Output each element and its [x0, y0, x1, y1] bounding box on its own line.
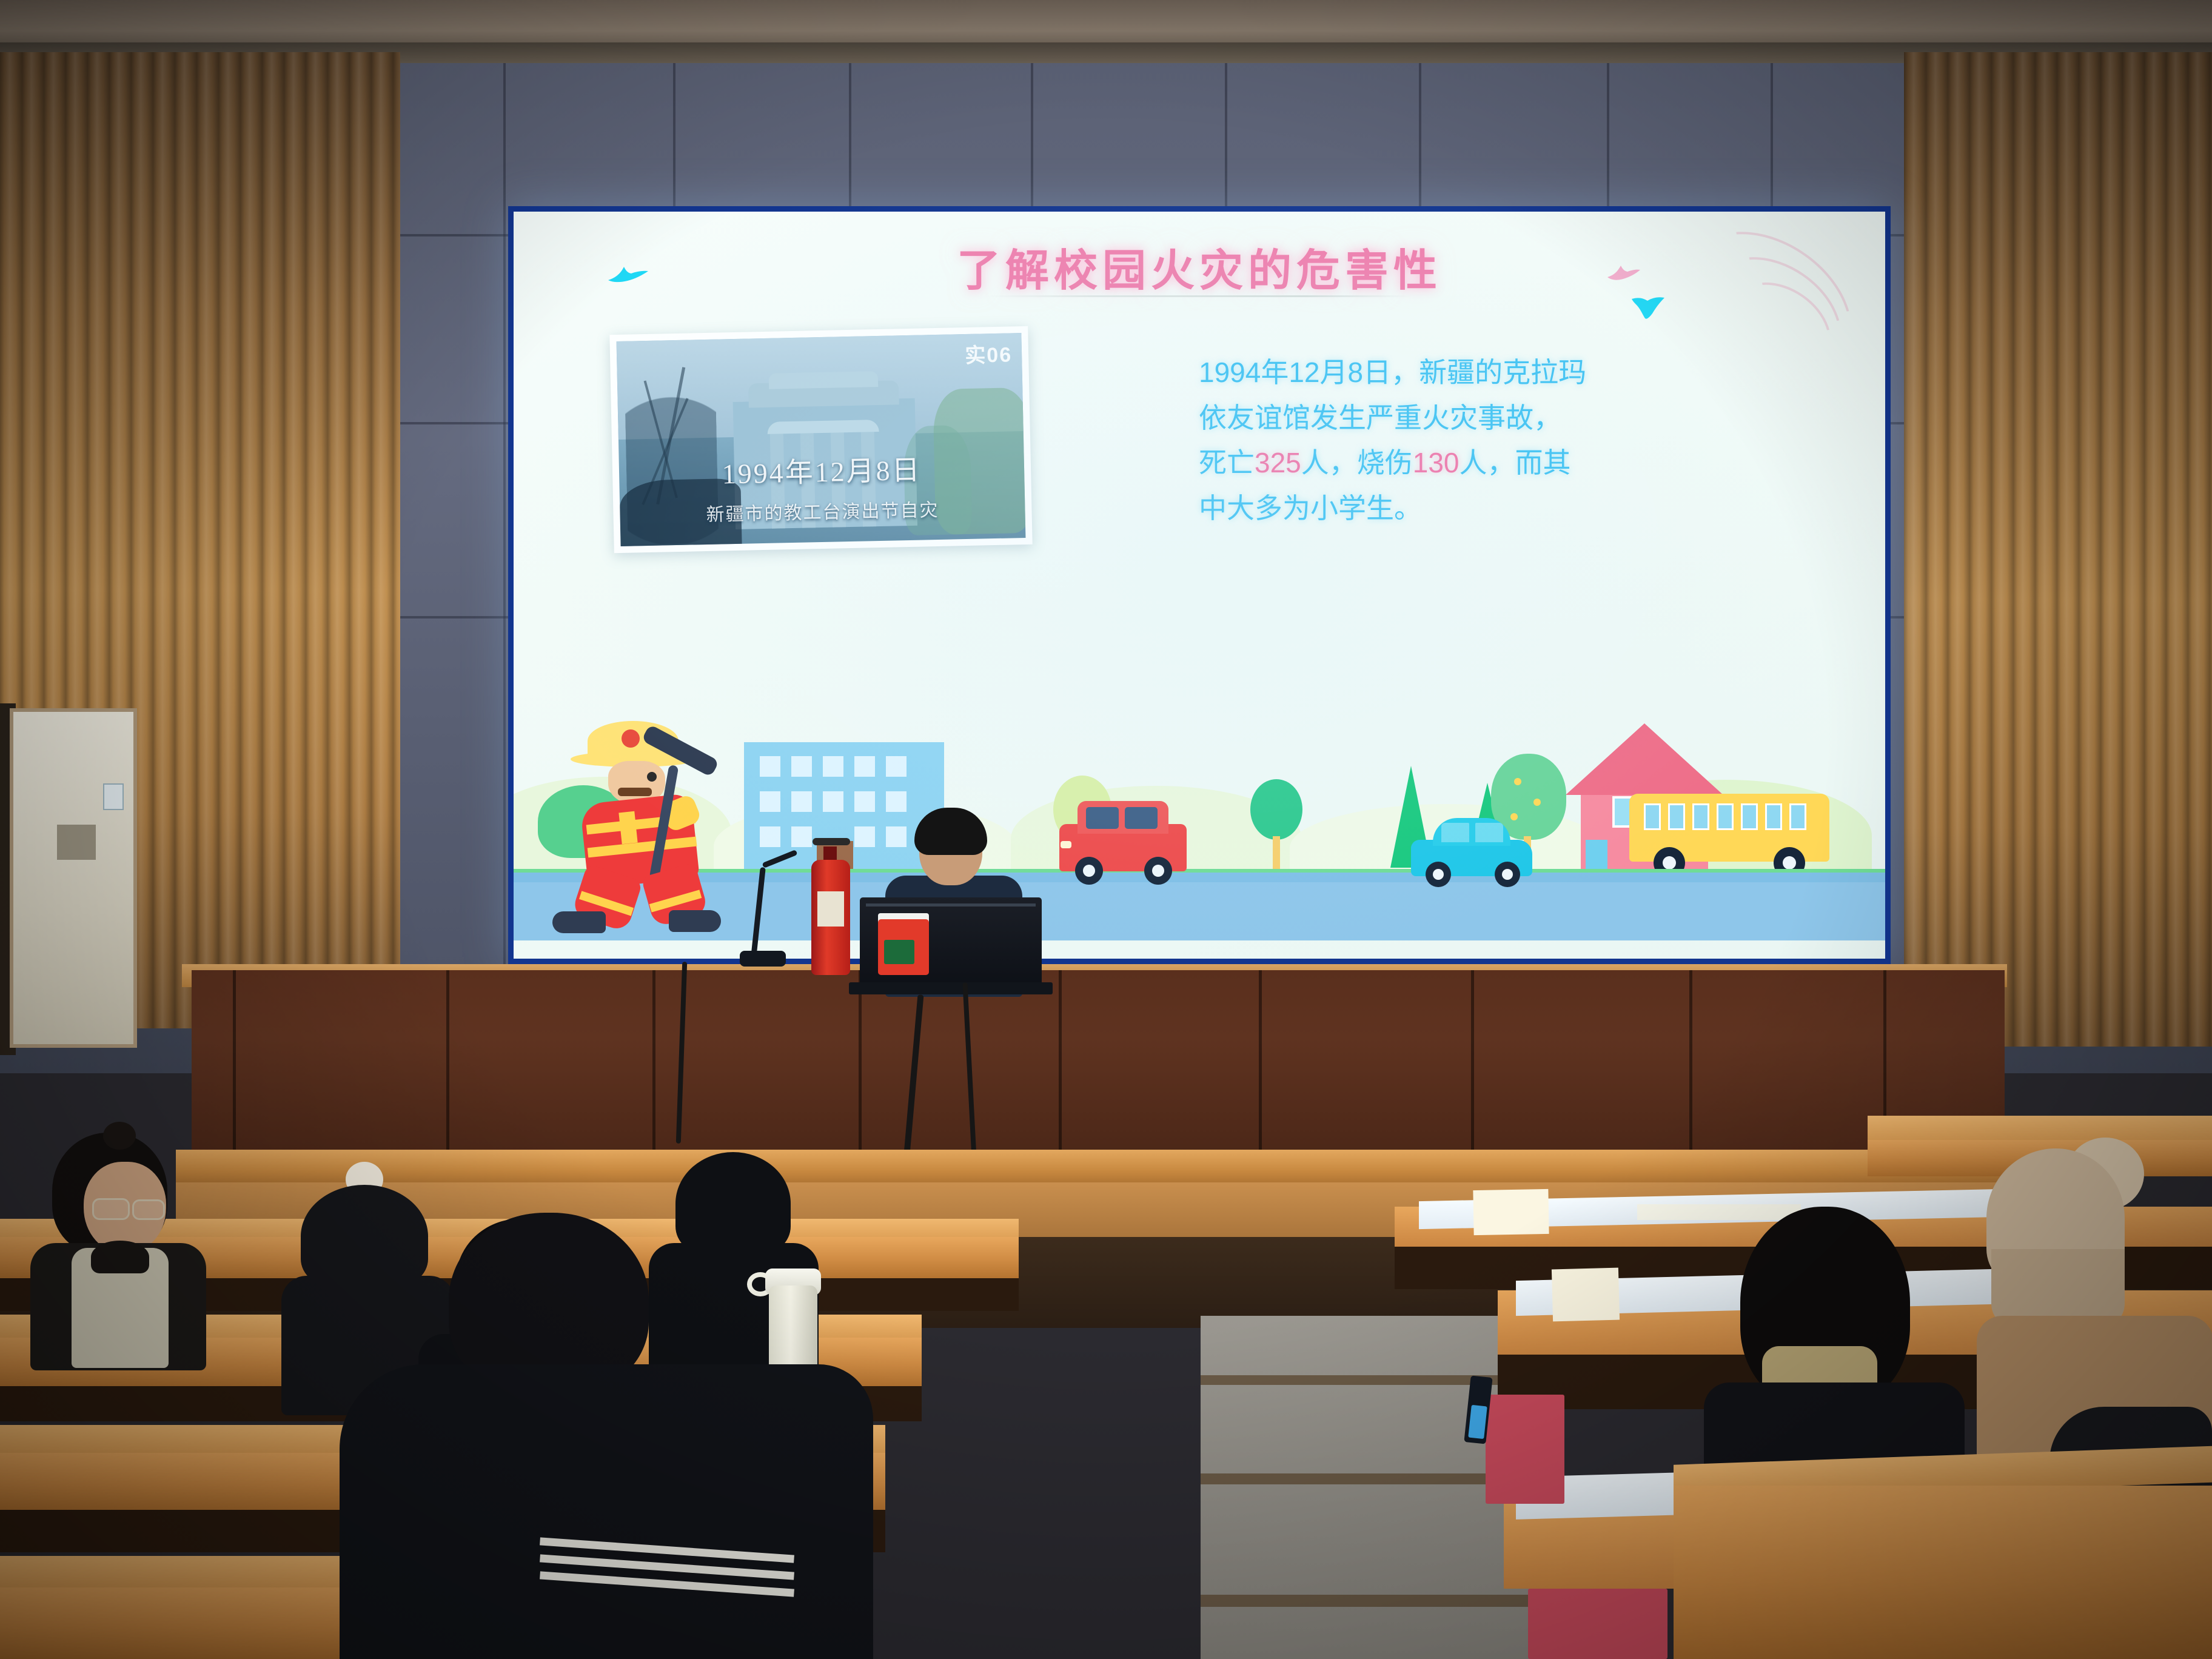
podium — [192, 970, 2005, 1164]
red-tote-bag — [1486, 1395, 1564, 1504]
slide-body-line-2: 依友谊馆发生严重火灾事故， — [1199, 395, 1617, 441]
cyan-bird-right-icon — [1629, 290, 1672, 322]
projection-screen-frame: 了解校园火灾的危害性 — [508, 206, 1891, 964]
laptop-base — [849, 982, 1053, 994]
extinguisher-label — [817, 891, 844, 927]
slide-body-line-1: 1994年12月8日，新疆的克拉玛 — [1199, 350, 1617, 395]
pink-bird-right-icon — [1605, 259, 1643, 287]
presenter-hair — [914, 808, 987, 855]
air-conditioner-unit — [10, 708, 137, 1048]
desk-paper-3 — [1552, 1268, 1620, 1322]
air-conditioner-label — [103, 783, 124, 810]
extinguisher-handle — [813, 838, 850, 845]
microphone-base — [740, 951, 786, 967]
slide-body-line-3: 死亡325人，烧伤130人，而其 — [1199, 440, 1617, 486]
red-tote-bag-2 — [1528, 1589, 1667, 1659]
video-caption-date: 1994年12月8日 — [618, 446, 1024, 494]
air-conditioner-vent-icon — [57, 825, 96, 860]
slide-body-line-4: 中大多为小学生。 — [1199, 486, 1617, 531]
slide-title: 了解校园火灾的危害性 — [514, 235, 1885, 298]
desk-paper-1 — [1473, 1189, 1549, 1235]
curtain-right — [1904, 52, 2212, 1047]
round-tree-green — [1250, 779, 1302, 840]
video-card: 1994年12月8日 新疆市的教工台演出节自灾 实06 — [609, 326, 1032, 553]
video-frame: 1994年12月8日 新疆市的教工台演出节自灾 实06 — [617, 333, 1026, 546]
aisle-step-3 — [1201, 1595, 1540, 1607]
video-watermark: 实06 — [965, 338, 1013, 369]
running-firefighter-illustration — [550, 728, 732, 934]
auditorium-scene: 了解校园火灾的危害性 — [0, 0, 2212, 1659]
student-striped-sleeve-jacket — [340, 1249, 873, 1659]
laptop-screen-edge — [866, 903, 1036, 907]
bench-foreground — [1674, 1486, 2212, 1659]
projection-screen: 了解校园火灾的危害性 — [514, 212, 1885, 959]
red-box-label — [884, 940, 914, 964]
slide-illustration — [514, 698, 1885, 959]
slide-body-text: 1994年12月8日，新疆的克拉玛 依友谊馆发生严重火灾事故， 死亡325人，烧… — [1199, 350, 1617, 531]
cyan-bird-left-icon — [605, 257, 653, 287]
slide-title-underline — [987, 295, 1412, 297]
student-with-glasses — [24, 1133, 206, 1363]
